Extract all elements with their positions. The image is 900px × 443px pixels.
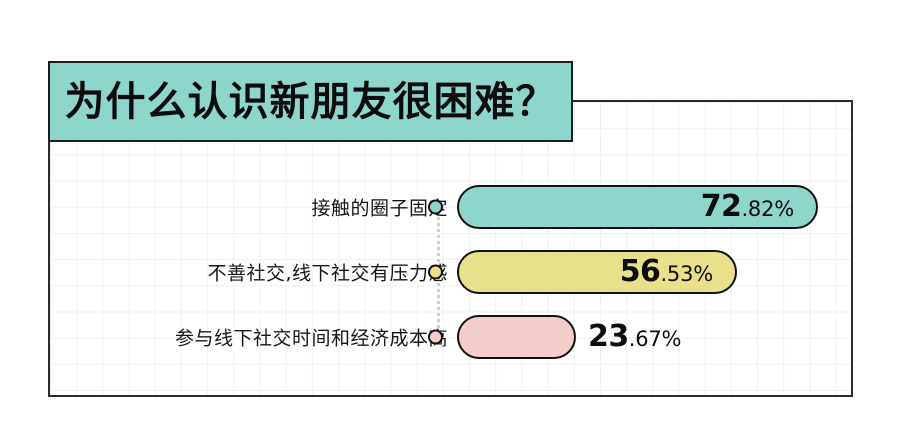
category-marker-dot [428,200,443,215]
bar-value-integer: 23 [588,319,629,354]
bar-segment[interactable]: 56.53% [457,250,737,294]
bar-value-decimal: .53% [660,262,713,286]
page-title: 为什么认识新朋友很困难？ [65,82,557,122]
chart-row: 不善社交,线下社交有压力感 56.53% [0,250,900,294]
bar-segment[interactable]: 23.67% [457,315,576,359]
category-marker-dot [428,330,443,345]
category-label: 参与线下社交时间和经济成本高 [175,324,448,351]
bar-value-decimal: .67% [629,327,682,351]
category-label: 不善社交,线下社交有压力感 [207,259,448,286]
bar-value-label: 56.53% [620,257,735,287]
bar-value-integer: 72 [701,189,742,224]
chart-row: 接触的圈子固定 72.82% [0,185,900,229]
chart-row: 参与线下社交时间和经济成本高 23.67% [0,315,900,359]
chart-title-banner: 为什么认识新朋友很困难？ [48,61,573,142]
bar-value-integer: 56 [620,254,661,289]
chart-canvas: 接触的圈子固定 72.82% 不善社交,线下社交有压力感 56.53% 参与线下… [0,0,900,443]
bar-value-decimal: .82% [741,197,794,221]
bar-value-label: 23.67% [574,322,681,352]
bar-value-label: 72.82% [701,192,816,222]
category-marker-dot [428,265,443,280]
bar-segment[interactable]: 72.82% [457,185,818,229]
